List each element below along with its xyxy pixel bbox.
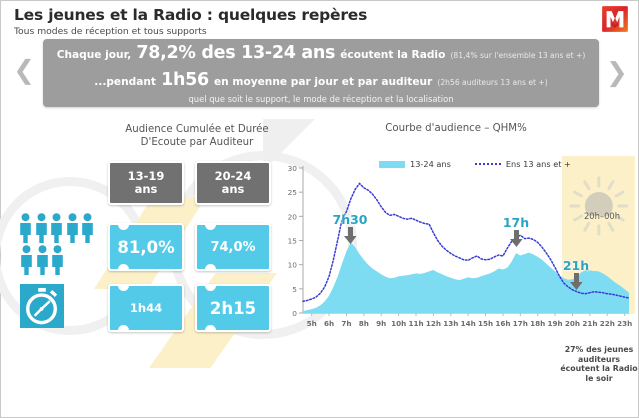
banner-line2-suffix: en moyenne par jour et par auditeur [214, 76, 432, 88]
banner-line1-note: (81,4% sur l'ensemble 13 ans et +) [450, 51, 585, 60]
person-icon [36, 245, 49, 275]
person-icon [19, 213, 32, 243]
marker-label-21h: 21h [558, 259, 594, 272]
legend-item-ens-13-plus: Ens 13 ans et + [475, 159, 571, 169]
svg-text:10: 10 [288, 261, 298, 270]
page-title: Les jeunes et la Radio : quelques repère… [14, 6, 367, 24]
mediametrie-logo-icon [601, 5, 629, 33]
svg-text:19h: 19h [548, 319, 563, 328]
svg-text:25: 25 [288, 188, 298, 197]
col2-label-line1: 20-24 [215, 169, 252, 183]
people-icon-row [19, 213, 94, 243]
svg-text:15: 15 [288, 237, 298, 246]
person-icon [20, 245, 33, 275]
marker-17h: 17h [496, 216, 536, 251]
legend-swatch-line [475, 163, 501, 165]
banner-line1-prefix: Chaque jour, [57, 49, 132, 61]
key-figures-banner: ❯ ❯ Chaque jour, 78,2% des 13-24 ans éco… [13, 39, 628, 107]
person-icon [81, 213, 94, 243]
svg-text:5: 5 [292, 285, 297, 294]
svg-text:5h: 5h [307, 319, 317, 328]
svg-text:20h: 20h [565, 319, 580, 328]
chart-legend: 13-24 ans Ens 13 ans et + [379, 159, 571, 169]
svg-text:17h: 17h [513, 319, 528, 328]
marker-7h30: 7h30 [327, 213, 373, 248]
people-icon-row [19, 245, 94, 275]
banner-line2-prefix: ...pendant [94, 76, 156, 88]
banner-line-3: quel que soit le support, le mode de réc… [188, 94, 453, 104]
svg-text:18h: 18h [530, 319, 545, 328]
svg-text:6h: 6h [324, 319, 334, 328]
svg-text:23h: 23h [617, 319, 632, 328]
banner-line-1: Chaque jour, 78,2% des 13-24 ans écouten… [57, 43, 586, 63]
svg-text:20: 20 [288, 212, 298, 221]
chart-title: Courbe d'audience – QHM% [331, 123, 581, 134]
svg-text:21h: 21h [582, 319, 597, 328]
marker-label-17h: 17h [496, 216, 536, 229]
chevron-right-icon: ❯ [606, 59, 620, 87]
chart-plot-area: 0510152025305h6h7h8h9h10h11h12h13h14h15h… [279, 156, 635, 341]
infographic-root: Les jeunes et la Radio : quelques repère… [0, 0, 639, 418]
col2-label-line2: ans [222, 182, 245, 196]
down-arrow-icon [570, 273, 583, 290]
svg-text:7h: 7h [341, 319, 351, 328]
left-panel-title: Audience Cumulée et Durée D'Ecoute par A… [101, 123, 293, 149]
svg-text:22h: 22h [600, 319, 615, 328]
down-arrow-icon [510, 230, 523, 247]
marker-21h: 21h [558, 259, 594, 294]
svg-text:8h: 8h [359, 319, 369, 328]
person-icon [51, 245, 64, 275]
svg-text:13h: 13h [443, 319, 458, 328]
col1-label-line2: ans [135, 182, 158, 196]
stopwatch-icon [20, 284, 64, 328]
page-subtitle: Tous modes de réception et tous supports [14, 26, 367, 37]
evening-band-label: 20h–00h [567, 211, 637, 221]
marker-label-7h30: 7h30 [327, 213, 373, 226]
page-header: Les jeunes et la Radio : quelques repère… [14, 6, 367, 37]
col1-label-line1: 13-19 [128, 169, 165, 183]
svg-text:30: 30 [288, 164, 298, 173]
svg-text:11h: 11h [408, 319, 423, 328]
svg-text:9h: 9h [376, 319, 386, 328]
value-duree-13-19: 1h44 [108, 284, 184, 332]
svg-text:0: 0 [292, 309, 297, 318]
svg-text:10h: 10h [391, 319, 406, 328]
column-header-20-24: 20-24 ans [195, 161, 271, 205]
banner-line2-note: (2h56 auditeurs 13 ans et +) [437, 78, 547, 87]
value-audience-20-24: 74,0% [195, 223, 271, 271]
banner-line2-highlight: 1h56 [161, 70, 209, 90]
chevron-left-icon: ❯ [21, 59, 35, 87]
person-icon [35, 213, 48, 243]
column-header-13-19: 13-19 ans [108, 161, 184, 205]
legend-swatch-area [379, 161, 405, 168]
person-icon [50, 213, 63, 243]
value-audience-13-19: 81,0% [108, 223, 184, 271]
legend-label-ens: Ens 13 ans et + [506, 159, 571, 169]
svg-text:16h: 16h [495, 319, 510, 328]
value-duree-20-24: 2h15 [195, 284, 271, 332]
audience-curve-chart: 13-24 ans Ens 13 ans et + 0510152025305h… [279, 156, 635, 341]
banner-line1-highlight: 78,2% des 13-24 ans [136, 43, 335, 63]
person-icon [66, 213, 79, 243]
evening-band-caption: 27% des jeunes auditeurs écoutent la Rad… [559, 345, 639, 383]
svg-text:14h: 14h [461, 319, 476, 328]
svg-text:12h: 12h [426, 319, 441, 328]
down-arrow-icon [344, 227, 357, 244]
svg-text:15h: 15h [478, 319, 493, 328]
legend-label-13-24: 13-24 ans [410, 159, 451, 169]
people-icon-group [19, 213, 94, 275]
banner-line1-suffix: écoutent la Radio [340, 49, 445, 61]
banner-line-2: ...pendant 1h56 en moyenne par jour et p… [94, 70, 547, 90]
legend-item-13-24: 13-24 ans [379, 159, 451, 169]
